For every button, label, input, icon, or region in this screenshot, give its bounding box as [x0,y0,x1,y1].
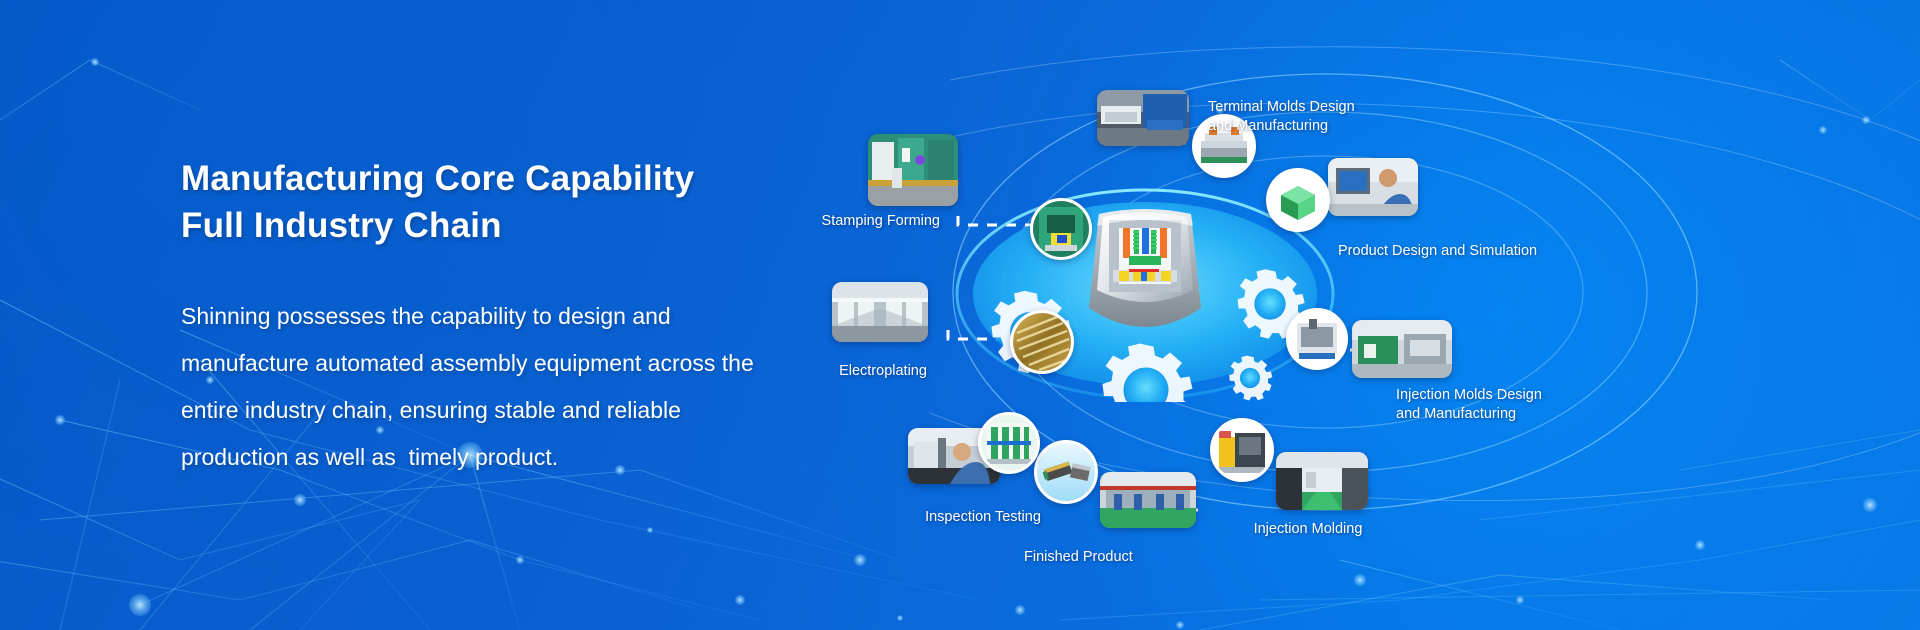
node-icon-injection-molding[interactable] [1210,418,1274,482]
node-label-inspection-testing: Inspection Testing [888,508,1078,527]
node-photo-injection-molds[interactable] [1352,320,1452,378]
node-label-terminal-molds: Terminal Molds Design and Manufacturing [1208,98,1408,136]
page-title: Manufacturing Core Capability Full Indus… [181,155,881,249]
node-label-product-design: Product Design and Simulation [1338,242,1568,261]
node-label-injection-molds: Injection Molds Design and Manufacturing [1396,386,1606,424]
node-label-injection-molding: Injection Molding [1218,520,1398,539]
headline-line-1: Manufacturing Core Capability [181,159,694,198]
injection-mold-cross-section-icon [1083,204,1207,346]
node-icon-product-design[interactable] [1266,168,1330,232]
banner-root: Manufacturing Core Capability Full Indus… [0,0,1920,630]
node-photo-stamping-forming[interactable] [868,134,958,206]
node-label-electroplating: Electroplating [818,362,948,381]
node-photo-product-design[interactable] [1328,158,1418,216]
node-icon-stamping-forming[interactable] [1030,198,1092,260]
headline-line-2: Full Industry Chain [181,206,502,245]
node-photo-terminal-molds[interactable] [1097,90,1189,146]
node-photo-injection-molding[interactable] [1276,452,1368,510]
node-label-finished-product: Finished Product [1024,548,1204,567]
node-label-stamping-forming: Stamping Forming [820,212,940,231]
node-icon-finished-product[interactable] [1034,440,1098,504]
node-icon-injection-molds[interactable] [1286,308,1348,370]
node-icon-inspection-testing[interactable] [978,412,1040,474]
node-icon-electroplating[interactable] [1010,310,1074,374]
node-photo-electroplating[interactable] [832,282,928,342]
copy-block: Manufacturing Core Capability Full Indus… [181,155,881,481]
description-paragraph: Shinning possesses the capability to des… [181,293,881,481]
node-photo-finished-product[interactable] [1100,472,1196,528]
industry-chain-diagram: Stamping Forming Terminal [930,0,1920,630]
